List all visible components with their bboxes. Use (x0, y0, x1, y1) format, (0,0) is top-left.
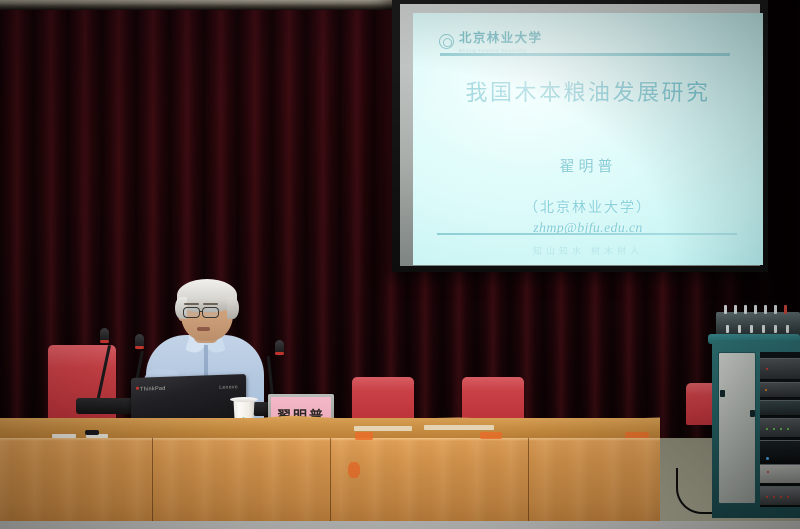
presentation-slide: 北京林业大学 Beijing Forestry University 我国木本粮… (413, 13, 763, 265)
mixer-knob-3[interactable] (744, 305, 747, 314)
mixer-fader-3[interactable] (750, 325, 753, 333)
rack-unit-amplifier[interactable] (760, 382, 800, 398)
led-green-2 (773, 428, 775, 430)
mixer-knob-5[interactable] (764, 305, 767, 314)
led-blue-1 (766, 457, 769, 460)
table-panel-seam-1 (152, 438, 153, 529)
slide-institution-cn: 北京林业大学 (459, 31, 542, 45)
speaker-hair-right (227, 297, 239, 319)
led-red-1 (766, 368, 768, 370)
glasses-bridge (200, 311, 203, 312)
led-red-2 (767, 471, 769, 473)
slide-title: 我国木本粮油发展研究 (413, 75, 763, 107)
led-red-6 (787, 496, 789, 498)
glasses-lens-right (202, 307, 219, 318)
rack-door-panel[interactable] (718, 352, 756, 504)
university-seal-icon (439, 34, 454, 49)
speaker-eyebrow-left (184, 303, 199, 305)
laptop-vendor-label: Lenovo (219, 384, 238, 391)
led-red-4 (773, 496, 775, 498)
table-scuff-4 (625, 432, 649, 438)
slide-header-rule (440, 53, 730, 56)
mixer-fader-1[interactable] (726, 325, 729, 333)
led-green-4 (787, 428, 789, 430)
mixer-fader-4[interactable] (762, 325, 765, 333)
projection-screen-bezel: 北京林业大学 Beijing Forestry University 我国木本粮… (400, 4, 760, 266)
rack-unit-blank (760, 440, 800, 462)
table-panel-seam-3 (528, 438, 529, 529)
paper-slip-left-1 (52, 434, 76, 438)
table-scuff-2 (480, 432, 502, 439)
laptop-brand-label: ThinkPad (140, 386, 166, 393)
rack-unit-power-amp[interactable] (760, 464, 800, 484)
lecture-photo: 北京林业大学 Beijing Forestry University 我国木本粮… (0, 0, 800, 529)
thinkpad-dot-icon (136, 387, 139, 390)
slide-motto: 知山知水 树木树人 (413, 244, 763, 257)
image-bottom-border (0, 521, 800, 529)
led-orange-1 (765, 389, 767, 391)
rack-unit-cd-player[interactable] (760, 400, 800, 416)
rack-latch-top[interactable] (720, 390, 725, 397)
slide-footer-rule (437, 233, 737, 235)
microphone-ring-3 (275, 352, 284, 355)
table-scuff-3 (348, 462, 360, 478)
remote-control[interactable] (85, 430, 99, 435)
led-red-5 (780, 496, 782, 498)
led-green-3 (780, 428, 782, 430)
microphone-base-1 (76, 398, 116, 414)
table-wear-strip-1 (354, 426, 412, 431)
rack-unit-power-distributor[interactable] (760, 486, 800, 506)
mixer-fader-6[interactable] (786, 325, 789, 333)
led-green-1 (766, 428, 768, 430)
mixer-fader-2[interactable] (738, 325, 741, 333)
speaker-eyebrow-right (203, 303, 218, 305)
mixer-knob-1[interactable] (724, 305, 727, 314)
mixer-knob-7[interactable] (784, 305, 787, 314)
slide-affiliation: （北京林业大学） (413, 197, 763, 217)
rack-unit-tuner[interactable] (760, 358, 800, 380)
rack-unit-equalizer[interactable] (760, 418, 800, 438)
ceiling-rail-shadow (0, 6, 395, 10)
rack-gear-column (760, 352, 800, 507)
mixer-knob-4[interactable] (754, 305, 757, 314)
rack-latch-bottom[interactable] (750, 410, 755, 417)
microphone-ring-2 (135, 346, 144, 349)
mixer-knob-2[interactable] (734, 305, 737, 314)
mixer-knob-6[interactable] (774, 305, 777, 314)
glasses-lens-left (183, 307, 200, 318)
table-panel-seam-2 (330, 438, 331, 529)
mixer-fader-5[interactable] (774, 325, 777, 333)
slide-author: 翟明普 (413, 155, 763, 176)
speaker-mouth (197, 327, 210, 331)
microphone-ring-1 (100, 340, 109, 343)
table-wear-strip-2 (424, 425, 494, 430)
projection-screen-frame: 北京林业大学 Beijing Forestry University 我国木本粮… (392, 0, 768, 272)
paper-cup-rim (230, 397, 258, 402)
slide-university-logo: 北京林业大学 Beijing Forestry University (439, 29, 542, 53)
led-red-3 (766, 496, 768, 498)
table-scuff-1 (355, 432, 373, 440)
